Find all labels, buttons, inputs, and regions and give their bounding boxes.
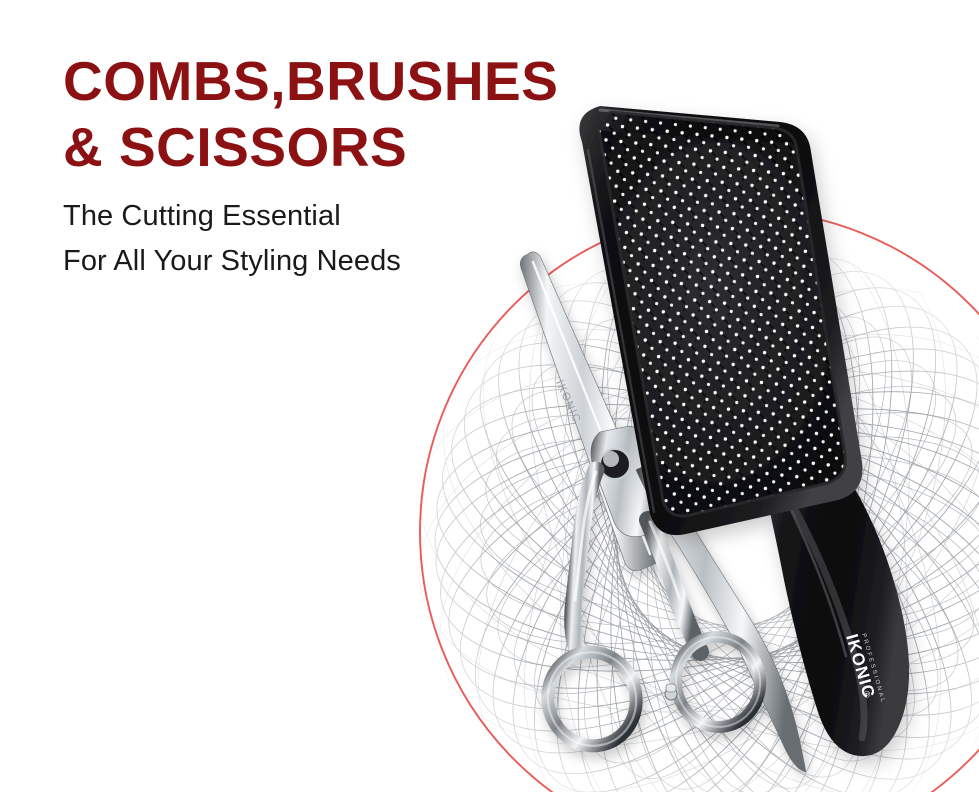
scissors-ring-left	[538, 643, 646, 755]
copy-block: COMBS,BRUSHES & SCISSORS The Cutting Ess…	[63, 48, 643, 284]
scissors-arm-right	[648, 520, 700, 652]
brush-brand-lockup: IKONIC PROFESSIONAL ®	[842, 632, 886, 705]
scissors-brand-etch: IKONIC	[553, 378, 583, 425]
scissors-pivot-screw	[600, 449, 630, 479]
scissors: IKONIC	[520, 252, 806, 772]
promo-banner: COMBS,BRUSHES & SCISSORS The Cutting Ess…	[0, 0, 979, 792]
scissors-blade-upper	[520, 252, 669, 571]
page-title: COMBS,BRUSHES & SCISSORS	[63, 48, 643, 180]
scissors-ring-right	[669, 630, 767, 733]
brush-handle	[760, 462, 909, 756]
brush-brand-subline: PROFESSIONAL	[860, 633, 886, 705]
brush-brand-name: IKONIC	[842, 632, 878, 701]
brush-neck	[742, 440, 848, 502]
scissors-pivot-housing	[591, 427, 676, 537]
scissors-blade-lower	[636, 467, 806, 772]
scissors-arm-left	[573, 470, 596, 652]
subtitle: The Cutting Essential For All Your Styli…	[63, 194, 643, 284]
scissors-finger-rest	[665, 684, 677, 700]
brush-brand-registered-mark: ®	[861, 690, 873, 699]
red-circle-outline	[420, 210, 979, 792]
